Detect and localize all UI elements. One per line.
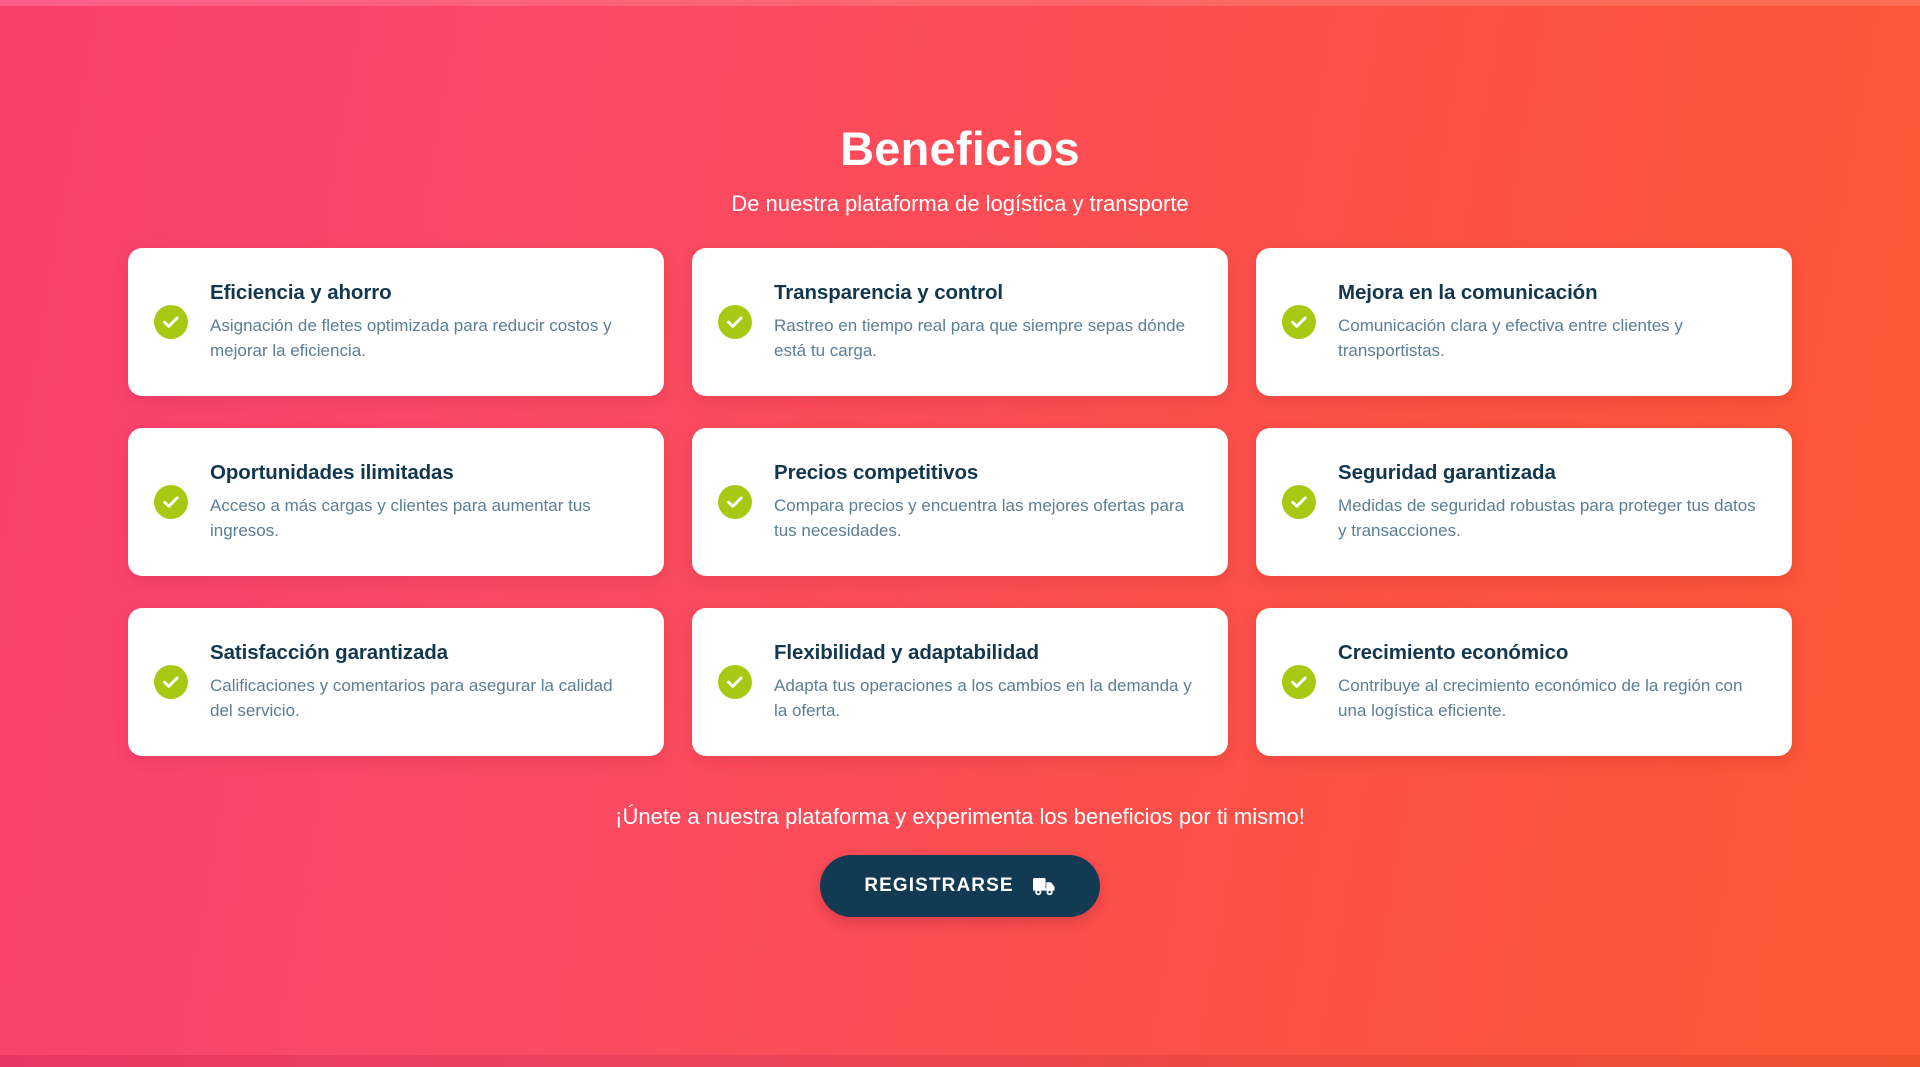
- benefit-card-description: Contribuye al crecimiento económico de l…: [1338, 674, 1762, 723]
- register-button-label: REGISTRARSE: [864, 875, 1013, 897]
- benefit-card-description: Acceso a más cargas y clientes para aume…: [210, 494, 634, 543]
- benefit-card[interactable]: Satisfacción garantizada Calificaciones …: [128, 608, 664, 756]
- benefit-card[interactable]: Mejora en la comunicación Comunicación c…: [1256, 248, 1792, 396]
- truck-icon: [1032, 877, 1056, 896]
- benefit-card-text: Precios competitivos Compara precios y e…: [774, 460, 1198, 544]
- cta-text: ¡Únete a nuestra plataforma y experiment…: [0, 804, 1920, 830]
- check-circle-icon: [718, 485, 752, 519]
- benefit-card[interactable]: Precios competitivos Compara precios y e…: [692, 428, 1228, 576]
- benefit-card-description: Medidas de seguridad robustas para prote…: [1338, 494, 1762, 543]
- benefit-card-text: Seguridad garantizada Medidas de segurid…: [1338, 460, 1762, 544]
- benefits-page: Beneficios De nuestra plataforma de logí…: [0, 0, 1920, 1067]
- benefit-card-description: Compara precios y encuentra las mejores …: [774, 494, 1198, 543]
- benefit-card-text: Satisfacción garantizada Calificaciones …: [210, 640, 634, 724]
- benefit-card-text: Mejora en la comunicación Comunicación c…: [1338, 280, 1762, 364]
- cta-button-wrapper: REGISTRARSE: [0, 855, 1920, 917]
- benefit-card-title: Oportunidades ilimitadas: [210, 460, 634, 486]
- benefit-card-description: Comunicación clara y efectiva entre clie…: [1338, 314, 1762, 363]
- benefit-card[interactable]: Seguridad garantizada Medidas de segurid…: [1256, 428, 1792, 576]
- benefit-card-title: Seguridad garantizada: [1338, 460, 1762, 486]
- benefit-card[interactable]: Eficiencia y ahorro Asignación de fletes…: [128, 248, 664, 396]
- benefit-card-description: Calificaciones y comentarios para asegur…: [210, 674, 634, 723]
- benefit-card-title: Flexibilidad y adaptabilidad: [774, 640, 1198, 666]
- benefits-grid: Eficiencia y ahorro Asignación de fletes…: [128, 248, 1792, 756]
- check-circle-icon: [154, 665, 188, 699]
- benefit-card-title: Crecimiento económico: [1338, 640, 1762, 666]
- page-title: Beneficios: [0, 124, 1920, 173]
- benefit-card-text: Transparencia y control Rastreo en tiemp…: [774, 280, 1198, 364]
- page-subtitle: De nuestra plataforma de logística y tra…: [0, 191, 1920, 217]
- check-circle-icon: [154, 485, 188, 519]
- benefit-card-description: Asignación de fletes optimizada para red…: [210, 314, 634, 363]
- benefit-card-text: Oportunidades ilimitadas Acceso a más ca…: [210, 460, 634, 544]
- check-circle-icon: [1282, 485, 1316, 519]
- benefit-card-title: Eficiencia y ahorro: [210, 280, 634, 306]
- benefit-card-text: Eficiencia y ahorro Asignación de fletes…: [210, 280, 634, 364]
- benefit-card-title: Mejora en la comunicación: [1338, 280, 1762, 306]
- benefit-card[interactable]: Transparencia y control Rastreo en tiemp…: [692, 248, 1228, 396]
- benefit-card-description: Adapta tus operaciones a los cambios en …: [774, 674, 1198, 723]
- benefit-card[interactable]: Flexibilidad y adaptabilidad Adapta tus …: [692, 608, 1228, 756]
- check-circle-icon: [718, 305, 752, 339]
- benefit-card-description: Rastreo en tiempo real para que siempre …: [774, 314, 1198, 363]
- register-button[interactable]: REGISTRARSE: [820, 855, 1099, 917]
- check-circle-icon: [154, 305, 188, 339]
- check-circle-icon: [718, 665, 752, 699]
- benefit-card-title: Transparencia y control: [774, 280, 1198, 306]
- benefit-card[interactable]: Crecimiento económico Contribuye al crec…: [1256, 608, 1792, 756]
- benefit-card-title: Satisfacción garantizada: [210, 640, 634, 666]
- benefit-card-title: Precios competitivos: [774, 460, 1198, 486]
- benefit-card[interactable]: Oportunidades ilimitadas Acceso a más ca…: [128, 428, 664, 576]
- page-content: Beneficios De nuestra plataforma de logí…: [0, 0, 1920, 917]
- benefit-card-text: Flexibilidad y adaptabilidad Adapta tus …: [774, 640, 1198, 724]
- benefit-card-text: Crecimiento económico Contribuye al crec…: [1338, 640, 1762, 724]
- check-circle-icon: [1282, 305, 1316, 339]
- check-circle-icon: [1282, 665, 1316, 699]
- bottom-edge-strip: [0, 1055, 1920, 1067]
